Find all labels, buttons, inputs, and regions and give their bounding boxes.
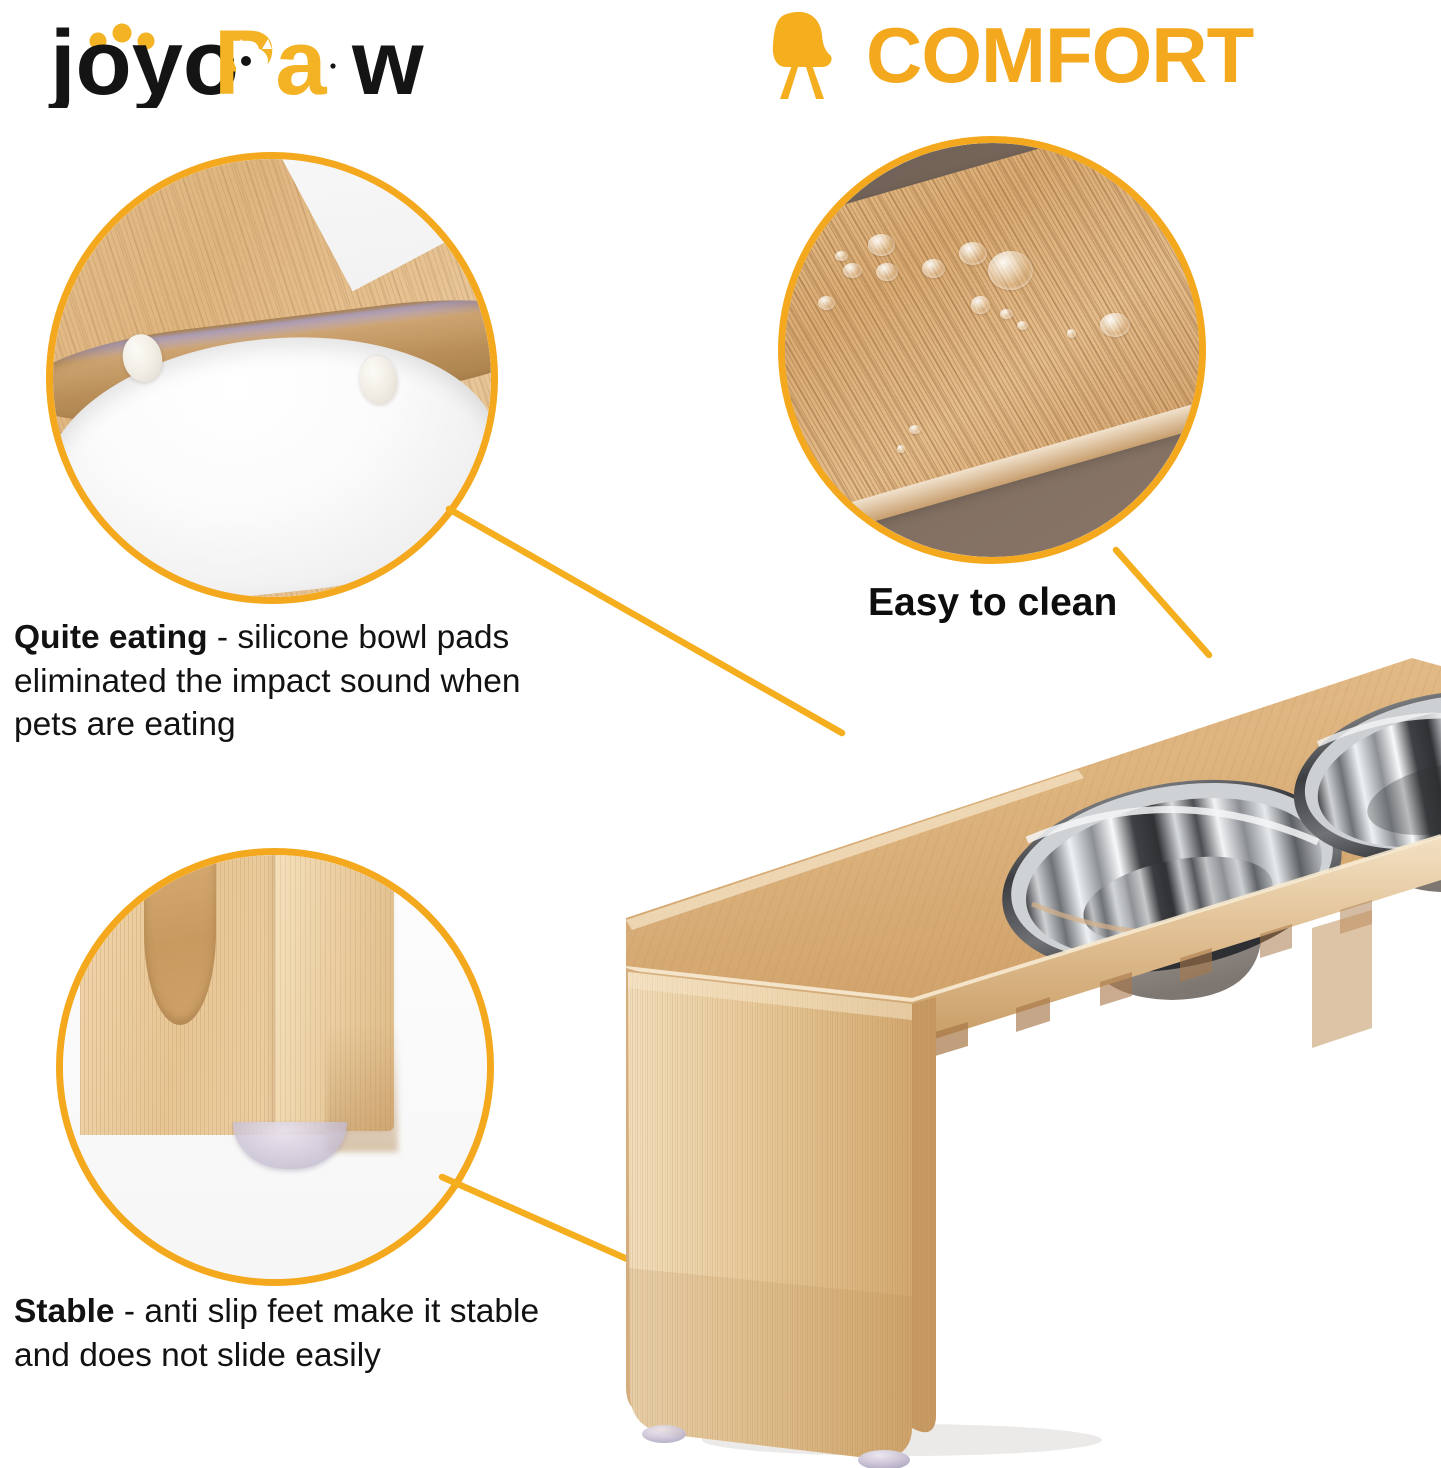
caption-stable-bold: Stable: [14, 1293, 115, 1330]
joyopaw-logo-svg: joyo Pa w: [36, 8, 436, 108]
logo-pet-eye: [241, 56, 251, 66]
leg-right-far: [1312, 910, 1372, 1048]
water-bead: [1067, 329, 1077, 337]
header-banner: COMFORT: [770, 0, 1330, 110]
leg-notch-cap: [148, 855, 212, 859]
caption-quiet-eating: Quite eating - silicone bowl pads elimin…: [14, 616, 574, 747]
label-easy-to-clean: Easy to clean: [868, 581, 1117, 625]
page-title: COMFORT: [866, 16, 1253, 94]
leg-panel-left: [626, 968, 936, 1468]
water-bead: [909, 425, 921, 434]
brand-logo: joyo Pa w: [36, 8, 436, 108]
logo-text-pa: Pa: [214, 12, 346, 108]
leg-right-edge-grain: [912, 997, 936, 1432]
stable-photo: [63, 855, 487, 1279]
anti-slip-foot-rear: [642, 1425, 686, 1443]
water-bead: [959, 242, 987, 264]
armchair-icon: [770, 9, 848, 101]
quiet-eating-photo: [53, 159, 491, 597]
caption-stable-dash: -: [115, 1293, 145, 1330]
leg-notch-cutout: [144, 855, 216, 1025]
caption-quiet-eating-bold: Quite eating: [14, 619, 208, 656]
logo-pet-head-small-icon: [327, 53, 346, 74]
water-bead: [1100, 313, 1131, 337]
logo-text-joyo: joyo: [48, 12, 239, 108]
caption-quiet-eating-dash: -: [208, 619, 238, 656]
callout-image-stable: [56, 848, 494, 1286]
leg-panel-right: [1312, 910, 1372, 1048]
water-bead: [971, 296, 989, 313]
callout-image-easy-to-clean: [778, 136, 1206, 564]
easy-to-clean-photo: [785, 143, 1199, 557]
water-bead: [835, 251, 848, 262]
logo-pet-eye-small: [330, 63, 335, 68]
water-bead: [922, 259, 945, 278]
callout-image-quiet-eating: [46, 152, 498, 604]
water-bead: [897, 445, 905, 452]
logo-text-w: w: [351, 12, 424, 108]
water-bead: [1000, 309, 1012, 319]
svg-text:Pa: Pa: [214, 12, 327, 108]
water-bead: [1017, 321, 1028, 330]
water-bead: [876, 263, 898, 281]
water-bead: [843, 263, 862, 278]
product-photo-feeder-stand: [612, 628, 1441, 1468]
caption-stable: Stable - anti slip feet make it stable a…: [14, 1290, 594, 1377]
water-bead: [868, 234, 895, 256]
